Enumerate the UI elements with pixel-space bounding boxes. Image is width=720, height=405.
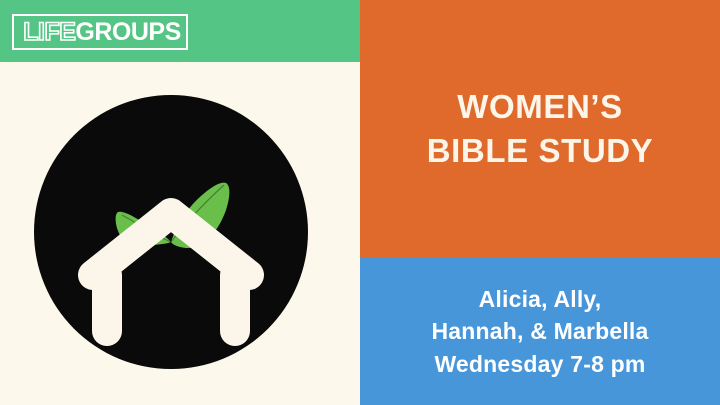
details-panel: Alicia, Ally, Hannah, & Marbella Wednesd…: [360, 258, 720, 405]
details-line-3: Wednesday 7-8 pm: [434, 348, 645, 381]
brand-bar: LIFEGROUPS: [0, 0, 360, 62]
emblem-circle: [34, 95, 308, 369]
brand-word-life: LIFE: [23, 18, 75, 47]
details-line-2: Hannah, & Marbella: [431, 315, 648, 348]
left-column: LIFEGROUPS: [0, 0, 360, 405]
title-line-2: BIBLE STUDY: [427, 129, 654, 173]
title-panel: WOMEN’S BIBLE STUDY: [360, 0, 720, 258]
brand-word-groups: GROUPS: [75, 18, 180, 47]
promo-card: LIFEGROUPS: [0, 0, 720, 405]
details-line-1: Alicia, Ally,: [479, 283, 602, 316]
title-line-1: WOMEN’S: [457, 85, 623, 129]
right-column: WOMEN’S BIBLE STUDY Alicia, Ally, Hannah…: [360, 0, 720, 405]
brand-wordmark: LIFEGROUPS: [14, 16, 190, 48]
house-with-sprout-icon: [34, 95, 308, 369]
brand-logo-box: LIFEGROUPS: [12, 14, 188, 50]
